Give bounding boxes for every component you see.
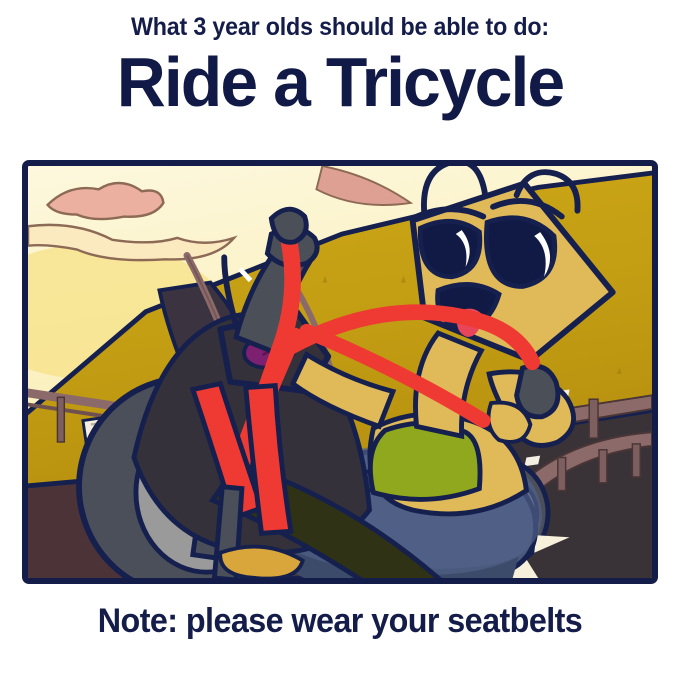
page-title: Ride a Tricycle	[10, 44, 670, 120]
tricycle-illustration	[28, 166, 652, 578]
handlebar-grip-left	[271, 209, 306, 242]
handlebar-grip-right	[517, 366, 558, 417]
kicker-text: What 3 year olds should be able to do:	[24, 12, 656, 42]
bottom-text-block: Note: please wear your seatbelts	[0, 600, 680, 642]
top-text-block: What 3 year olds should be able to do: R…	[0, 0, 680, 120]
caption-text: Note: please wear your seatbelts	[17, 600, 663, 642]
meme-image: What 3 year olds should be able to do: R…	[0, 0, 680, 680]
illustration-frame	[22, 160, 658, 584]
